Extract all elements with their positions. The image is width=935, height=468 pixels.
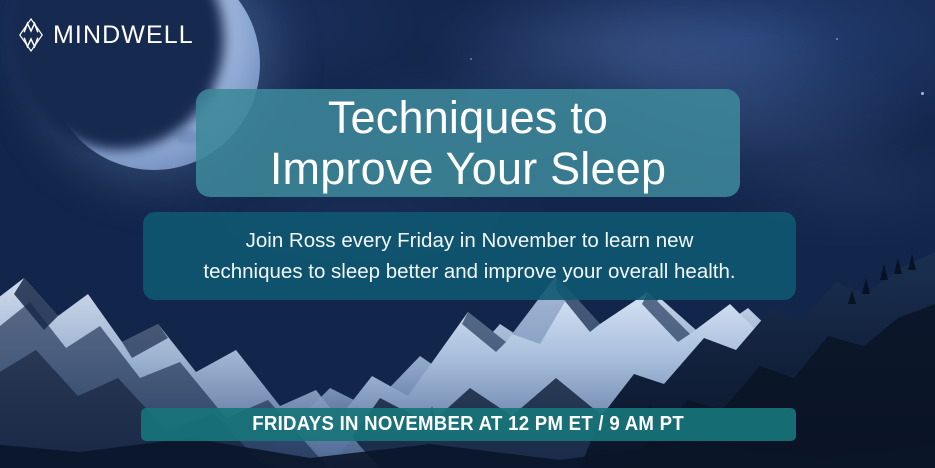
brand-name: MINDWELL: [53, 18, 194, 52]
promo-poster: MINDWELL Techniques to Improve Your Slee…: [0, 0, 935, 468]
title-card: Techniques to Improve Your Sleep: [196, 89, 740, 197]
subtitle-line-1: Join Ross every Friday in November to le…: [246, 225, 694, 256]
star: [921, 92, 924, 95]
star: [470, 58, 472, 60]
star: [836, 38, 838, 40]
title-line-1: Techniques to: [328, 92, 608, 143]
title-line-2: Improve Your Sleep: [270, 143, 666, 194]
brand-logo[interactable]: MINDWELL: [18, 18, 194, 52]
schedule-banner: FRIDAYS IN NOVEMBER AT 12 PM ET / 9 AM P…: [141, 408, 796, 441]
mindwell-diamond-mw-icon: [18, 18, 44, 52]
subtitle-card: Join Ross every Friday in November to le…: [143, 212, 796, 300]
subtitle-line-2: techniques to sleep better and improve y…: [203, 256, 735, 287]
schedule-text: FRIDAYS IN NOVEMBER AT 12 PM ET / 9 AM P…: [253, 413, 685, 436]
